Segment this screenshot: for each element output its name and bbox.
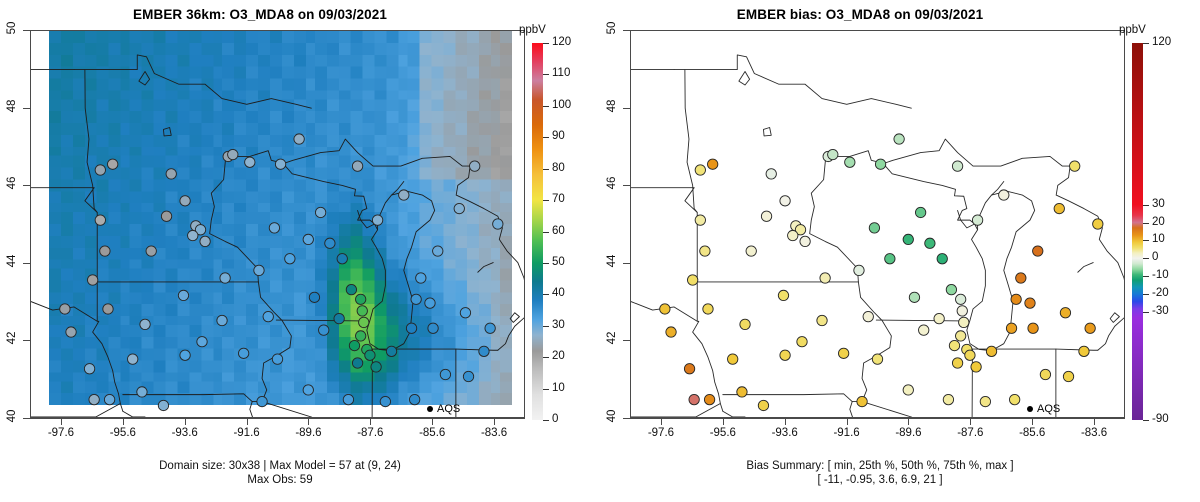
obs-station-dot[interactable] <box>87 275 97 285</box>
aqs-legend: AQS <box>427 403 460 415</box>
colorbar-tick-label: 80 <box>552 162 565 174</box>
bias-station-dot[interactable] <box>915 207 925 217</box>
bias-station-dot[interactable] <box>703 304 713 314</box>
bias-station-dot[interactable] <box>869 223 879 233</box>
model-caption-line2: Max Obs: 59 <box>0 473 560 487</box>
colorbar-tick-label: 10 <box>1152 233 1165 245</box>
obs-station-dot[interactable] <box>84 364 94 374</box>
bias-station-dot[interactable] <box>1085 323 1095 333</box>
bias-colorbar-title: ppbV <box>1119 24 1146 36</box>
x-tick-label: -91.6 <box>217 427 277 439</box>
colorbar-tick <box>1143 312 1149 313</box>
colorbar-tick-label: 70 <box>552 193 565 205</box>
y-tick <box>623 418 630 419</box>
x-tick-label: -83.6 <box>464 427 524 439</box>
bias-station-dot[interactable] <box>689 394 699 404</box>
bias-station-dot[interactable] <box>766 169 776 179</box>
obs-station-dot[interactable] <box>386 346 396 356</box>
bias-station-dot[interactable] <box>986 346 996 356</box>
obs-station-dot[interactable] <box>416 273 426 283</box>
y-tick <box>623 108 630 109</box>
x-tick-label: -93.6 <box>755 427 815 439</box>
x-tick <box>785 418 786 425</box>
bias-station-dot[interactable] <box>937 254 947 264</box>
bias-colorbar-gradient <box>1132 43 1143 420</box>
obs-station-dot[interactable] <box>60 304 70 314</box>
bias-station-dot[interactable] <box>1054 203 1064 213</box>
x-tick-label: -87.6 <box>340 427 400 439</box>
obs-station-dot[interactable] <box>409 394 419 404</box>
colorbar-tick-label: -20 <box>1152 287 1169 299</box>
obs-station-dot[interactable] <box>166 169 176 179</box>
bias-station-dot[interactable] <box>1070 161 1080 171</box>
colorbar-tick <box>543 326 549 327</box>
colorbar-tick-label: 10 <box>552 382 565 394</box>
colorbar-tick <box>1143 276 1149 277</box>
bias-station-dot[interactable] <box>1033 246 1043 256</box>
bias-station-dot[interactable] <box>980 396 990 406</box>
colorbar-tick <box>543 389 549 390</box>
x-tick <box>494 418 495 425</box>
bias-station-dot[interactable] <box>728 354 738 364</box>
obs-station-dot[interactable] <box>460 308 470 318</box>
y-tick-label: 48 <box>6 86 18 126</box>
y-axis-line-bias <box>630 30 631 418</box>
obs-station-dot[interactable] <box>197 337 207 347</box>
obs-station-dot[interactable] <box>269 223 279 233</box>
x-tick-label: -95.6 <box>93 427 153 439</box>
bias-station-dot[interactable] <box>952 358 962 368</box>
obs-station-dot[interactable] <box>365 350 375 360</box>
colorbar-tick-label: 30 <box>1152 198 1165 210</box>
obs-station-dot[interactable] <box>275 159 285 169</box>
x-tick <box>908 418 909 425</box>
colorbar-tick-label: 30 <box>552 319 565 331</box>
obs-station-dot[interactable] <box>411 294 421 304</box>
obs-station-dot[interactable] <box>220 273 230 283</box>
obs-station-dot[interactable] <box>285 254 295 264</box>
obs-station-dot[interactable] <box>180 350 190 360</box>
bias-caption-line1: Bias Summary: [ min, 25th %, 50th %, 75t… <box>600 459 1160 473</box>
obs-station-dot[interactable] <box>217 315 227 325</box>
obs-station-dot[interactable] <box>200 236 210 246</box>
bias-station-dot[interactable] <box>817 315 827 325</box>
y-tick <box>623 30 630 31</box>
colorbar-tick-label: 20 <box>1152 216 1165 228</box>
bias-station-dot[interactable] <box>949 340 959 350</box>
bias-station-dot[interactable] <box>845 157 855 167</box>
aqs-legend-bias: AQS <box>1027 403 1060 415</box>
obs-station-dot[interactable] <box>294 134 304 144</box>
aqs-observation-dots[interactable] <box>31 31 524 417</box>
bias-station-dot[interactable] <box>955 331 965 341</box>
y-tick <box>623 185 630 186</box>
model-colorbar-title: ppbV <box>519 24 546 36</box>
obs-station-dot[interactable] <box>188 230 198 240</box>
obs-station-dot[interactable] <box>89 394 99 404</box>
obs-station-dot[interactable] <box>128 354 138 364</box>
colorbar-tick <box>543 106 549 107</box>
obs-station-dot[interactable] <box>352 358 362 368</box>
colorbar-tick <box>543 137 549 138</box>
obs-station-dot[interactable] <box>470 161 480 171</box>
bias-station-dot[interactable] <box>999 190 1009 200</box>
obs-station-dot[interactable] <box>245 157 255 167</box>
model-panel: EMBER 36km: O3_MDA8 on 09/03/2021 AQS -9… <box>0 0 600 502</box>
obs-station-dot[interactable] <box>355 294 365 304</box>
obs-station-dot[interactable] <box>140 319 150 329</box>
obs-station-dot[interactable] <box>146 246 156 256</box>
x-axis-line-bias <box>630 418 1125 419</box>
y-tick <box>23 30 30 31</box>
obs-station-dot[interactable] <box>95 165 105 175</box>
obs-station-dot[interactable] <box>406 323 416 333</box>
obs-station-dot[interactable] <box>352 161 362 171</box>
bias-station-dot[interactable] <box>700 246 710 256</box>
y-tick-label: 50 <box>606 8 618 48</box>
colorbar-tick-label: 90 <box>552 130 565 142</box>
obs-station-dot[interactable] <box>337 254 347 264</box>
aqs-bias-dots[interactable] <box>631 31 1124 417</box>
colorbar-tick <box>543 200 549 201</box>
bias-station-dot[interactable] <box>695 165 705 175</box>
bias-station-dot[interactable] <box>707 159 717 169</box>
x-tick-label: -87.6 <box>940 427 1000 439</box>
colorbar-tick <box>1143 205 1149 206</box>
y-tick-label: 42 <box>606 318 618 358</box>
colorbar-tick-label: -90 <box>1152 413 1169 425</box>
bias-station-dot[interactable] <box>828 149 838 159</box>
aqs-legend-label: AQS <box>437 403 460 415</box>
obs-station-dot[interactable] <box>399 190 409 200</box>
colorbar-tick-label: 0 <box>552 413 558 425</box>
obs-station-dot[interactable] <box>454 203 464 213</box>
x-tick <box>61 418 62 425</box>
bias-station-dot[interactable] <box>1063 371 1073 381</box>
obs-station-dot[interactable] <box>440 369 450 379</box>
bias-station-dot[interactable] <box>943 394 953 404</box>
x-tick <box>1094 418 1095 425</box>
x-tick <box>123 418 124 425</box>
obs-station-dot[interactable] <box>349 340 359 350</box>
bias-panel: EMBER bias: O3_MDA8 on 09/03/2021 AQS -9… <box>600 0 1200 502</box>
obs-station-dot[interactable] <box>303 385 313 395</box>
y-tick <box>623 340 630 341</box>
obs-station-dot[interactable] <box>315 207 325 217</box>
obs-station-dot[interactable] <box>100 246 110 256</box>
colorbar-tick-label: -30 <box>1152 305 1169 317</box>
bias-station-dot[interactable] <box>820 273 830 283</box>
obs-station-dot[interactable] <box>359 317 369 327</box>
bias-station-dot[interactable] <box>934 313 944 323</box>
obs-station-dot[interactable] <box>371 362 381 372</box>
x-tick <box>432 418 433 425</box>
obs-station-dot[interactable] <box>343 394 353 404</box>
bias-station-dot[interactable] <box>666 327 676 337</box>
y-tick-label: 46 <box>606 163 618 203</box>
x-tick-label: -97.6 <box>31 427 91 439</box>
obs-station-dot[interactable] <box>180 196 190 206</box>
colorbar-tick-label: 120 <box>552 36 571 48</box>
bias-station-dot[interactable] <box>1093 219 1103 229</box>
obs-station-dot[interactable] <box>346 284 356 294</box>
colorbar-tick <box>1143 294 1149 295</box>
aqs-legend-label-bias: AQS <box>1037 403 1060 415</box>
x-tick <box>1032 418 1033 425</box>
obs-station-dot[interactable] <box>334 313 344 323</box>
colorbar-tick <box>1143 420 1149 421</box>
obs-station-dot[interactable] <box>254 265 264 275</box>
colorbar-tick <box>543 294 549 295</box>
x-tick-label: -89.6 <box>278 427 338 439</box>
bias-station-dot[interactable] <box>875 159 885 169</box>
y-tick-label: 44 <box>6 241 18 281</box>
y-axis-line <box>30 30 31 418</box>
bias-station-dot[interactable] <box>863 311 873 321</box>
obs-station-dot[interactable] <box>425 298 435 308</box>
x-tick <box>970 418 971 425</box>
x-tick <box>185 418 186 425</box>
page-title: EMBER 36km: O3_MDA8 on 09/03/2021 <box>0 7 520 22</box>
bias-station-dot[interactable] <box>687 275 697 285</box>
bias-station-dot[interactable] <box>965 350 975 360</box>
bias-station-dot[interactable] <box>758 400 768 410</box>
colorbar-tick-label: 40 <box>552 287 565 299</box>
bias-station-dot[interactable] <box>854 265 864 275</box>
obs-station-dot[interactable] <box>319 325 329 335</box>
x-tick-label: -95.6 <box>693 427 753 439</box>
bias-station-dot[interactable] <box>971 362 981 372</box>
x-tick <box>370 418 371 425</box>
obs-station-dot[interactable] <box>303 234 313 244</box>
bias-station-dot[interactable] <box>1009 394 1019 404</box>
x-tick-label: -93.6 <box>155 427 215 439</box>
bias-station-dot[interactable] <box>894 134 904 144</box>
y-tick-label: 44 <box>606 241 618 281</box>
colorbar-tick <box>543 74 549 75</box>
colorbar-tick <box>543 43 549 44</box>
bias-page-title: EMBER bias: O3_MDA8 on 09/03/2021 <box>600 7 1120 22</box>
colorbar-tick <box>543 420 549 421</box>
y-tick <box>23 108 30 109</box>
bias-station-dot[interactable] <box>780 350 790 360</box>
obs-station-dot[interactable] <box>257 396 267 406</box>
bias-station-dot[interactable] <box>972 215 982 225</box>
colorbar-tick <box>1143 43 1149 44</box>
bias-map-plot-area[interactable]: AQS <box>630 30 1125 418</box>
obs-station-dot[interactable] <box>137 387 147 397</box>
x-tick-label: -89.6 <box>878 427 938 439</box>
obs-station-dot[interactable] <box>238 348 248 358</box>
obs-station-dot[interactable] <box>263 311 273 321</box>
bias-station-dot[interactable] <box>919 325 929 335</box>
obs-station-dot[interactable] <box>428 323 438 333</box>
bias-station-dot[interactable] <box>737 387 747 397</box>
bias-station-dot[interactable] <box>957 306 967 316</box>
obs-station-dot[interactable] <box>272 354 282 364</box>
bias-station-dot[interactable] <box>885 254 895 264</box>
obs-station-dot[interactable] <box>355 331 365 341</box>
bias-station-dot[interactable] <box>903 234 913 244</box>
y-tick-label: 40 <box>606 396 618 436</box>
y-tick-label: 40 <box>6 396 18 436</box>
obs-station-dot[interactable] <box>433 246 443 256</box>
bias-station-dot[interactable] <box>857 396 867 406</box>
y-tick-label: 42 <box>6 318 18 358</box>
colorbar-tick-label: 0 <box>1152 251 1158 263</box>
aqs-marker-icon <box>427 406 433 412</box>
bias-station-dot[interactable] <box>952 161 962 171</box>
colorbar-tick-label: 110 <box>552 67 570 79</box>
obs-station-dot[interactable] <box>479 346 489 356</box>
bias-station-dot[interactable] <box>797 337 807 347</box>
bias-station-dot[interactable] <box>1040 369 1050 379</box>
obs-station-dot[interactable] <box>103 304 113 314</box>
colorbar-tick <box>543 169 549 170</box>
y-tick-label: 50 <box>6 8 18 48</box>
bias-station-dot[interactable] <box>684 364 694 374</box>
bias-station-dot[interactable] <box>778 290 788 300</box>
obs-station-dot[interactable] <box>66 327 76 337</box>
obs-station-dot[interactable] <box>95 215 105 225</box>
x-tick <box>247 418 248 425</box>
y-tick <box>23 418 30 419</box>
obs-station-dot[interactable] <box>493 219 503 229</box>
bias-station-dot[interactable] <box>780 196 790 206</box>
colorbar-tick <box>543 357 549 358</box>
bias-station-dot[interactable] <box>1011 294 1021 304</box>
colorbar-tick <box>1143 223 1149 224</box>
bias-station-dot[interactable] <box>872 354 882 364</box>
x-tick <box>308 418 309 425</box>
obs-station-dot[interactable] <box>228 149 238 159</box>
bias-station-dot[interactable] <box>800 236 810 246</box>
obs-station-dot[interactable] <box>357 306 367 316</box>
bias-station-dot[interactable] <box>1025 298 1035 308</box>
colorbar-tick-label: 60 <box>552 225 565 237</box>
x-tick <box>847 418 848 425</box>
x-axis-line <box>30 418 525 419</box>
colorbar-tick <box>1143 240 1149 241</box>
x-tick-label: -85.6 <box>1002 427 1062 439</box>
colorbar-tick-label: 50 <box>552 256 565 268</box>
x-tick-label: -97.6 <box>631 427 691 439</box>
obs-station-dot[interactable] <box>104 394 114 404</box>
obs-station-dot[interactable] <box>463 371 473 381</box>
obs-station-dot[interactable] <box>485 323 495 333</box>
bias-station-dot[interactable] <box>909 292 919 302</box>
bias-station-dot[interactable] <box>1079 346 1089 356</box>
bias-station-dot[interactable] <box>959 317 969 327</box>
bias-station-dot[interactable] <box>746 246 756 256</box>
bias-station-dot[interactable] <box>1016 273 1026 283</box>
colorbar-tick <box>543 232 549 233</box>
obs-station-dot[interactable] <box>161 211 171 221</box>
x-tick-label: -85.6 <box>402 427 462 439</box>
bias-station-dot[interactable] <box>788 230 798 240</box>
bias-station-dot[interactable] <box>1028 323 1038 333</box>
y-tick <box>623 263 630 264</box>
aqs-marker-icon <box>1027 406 1033 412</box>
y-tick <box>23 185 30 186</box>
colorbar-tick-label: 120 <box>1152 36 1171 48</box>
bias-station-dot[interactable] <box>946 284 956 294</box>
obs-station-dot[interactable] <box>107 159 117 169</box>
x-tick <box>723 418 724 425</box>
colorbar-tick-label: 20 <box>552 350 565 362</box>
colorbar-tick-label: -10 <box>1152 269 1169 281</box>
bias-station-dot[interactable] <box>955 294 965 304</box>
x-tick-label: -83.6 <box>1064 427 1124 439</box>
y-tick <box>23 340 30 341</box>
colorbar-tick <box>543 263 549 264</box>
bias-station-dot[interactable] <box>1060 308 1070 318</box>
y-tick-label: 48 <box>606 86 618 126</box>
bias-station-dot[interactable] <box>761 211 771 221</box>
colorbar-tick-label: 100 <box>552 99 571 111</box>
obs-station-dot[interactable] <box>325 238 335 248</box>
colorbar-tick <box>1143 258 1149 259</box>
bias-caption-line2: [ -11, -0.95, 3.6, 6.9, 21 ] <box>600 473 1160 487</box>
bias-station-dot[interactable] <box>704 394 714 404</box>
bias-station-dot[interactable] <box>660 304 670 314</box>
obs-station-dot[interactable] <box>372 215 382 225</box>
bias-station-dot[interactable] <box>903 385 913 395</box>
obs-station-dot[interactable] <box>178 290 188 300</box>
x-tick-label: -91.6 <box>817 427 877 439</box>
bias-station-dot[interactable] <box>1006 323 1016 333</box>
model-colorbar-gradient <box>532 43 543 420</box>
obs-station-dot[interactable] <box>380 396 390 406</box>
model-map-plot-area[interactable]: AQS <box>30 30 525 418</box>
y-tick-label: 46 <box>6 163 18 203</box>
bias-station-dot[interactable] <box>838 348 848 358</box>
obs-station-dot[interactable] <box>158 400 168 410</box>
bias-station-dot[interactable] <box>740 319 750 329</box>
bias-station-dot[interactable] <box>925 238 935 248</box>
y-tick <box>23 263 30 264</box>
bias-station-dot[interactable] <box>695 215 705 225</box>
obs-station-dot[interactable] <box>309 292 319 302</box>
x-tick <box>661 418 662 425</box>
model-caption-line1: Domain size: 30x38 | Max Model = 57 at (… <box>0 459 560 473</box>
